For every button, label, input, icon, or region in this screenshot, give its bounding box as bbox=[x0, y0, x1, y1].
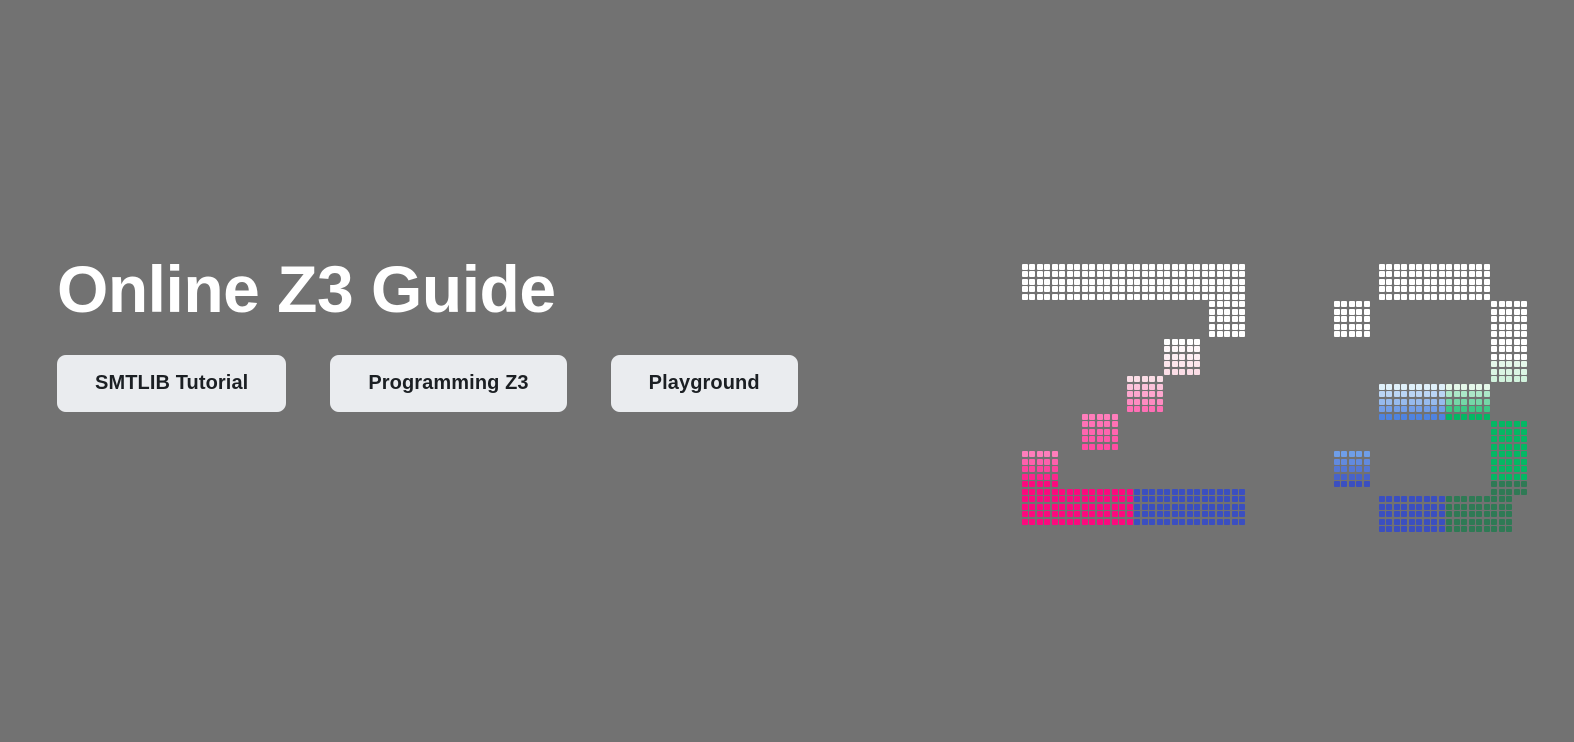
pixel-cell bbox=[1232, 309, 1238, 315]
pixel-cell bbox=[1439, 271, 1445, 277]
pixel-cell bbox=[1514, 324, 1520, 330]
pixel-cell bbox=[1424, 496, 1430, 502]
pixel-cell bbox=[1022, 496, 1028, 502]
pixel-cell bbox=[1239, 519, 1245, 525]
pixel-cell bbox=[1416, 384, 1422, 390]
pixel-cell bbox=[1491, 421, 1497, 427]
pixel-cell bbox=[1127, 279, 1133, 285]
pixel-cell bbox=[1172, 279, 1178, 285]
pixel-cell bbox=[1059, 279, 1065, 285]
pixel-cell bbox=[1172, 294, 1178, 300]
pixel-block bbox=[1446, 496, 1514, 534]
pixel-cell bbox=[1514, 481, 1520, 487]
pixel-cell bbox=[1461, 519, 1467, 525]
pixel-cell bbox=[1157, 504, 1163, 510]
pixel-cell bbox=[1424, 519, 1430, 525]
pixel-cell bbox=[1424, 286, 1430, 292]
pixel-cell bbox=[1119, 504, 1125, 510]
pixel-cell bbox=[1239, 496, 1245, 502]
pixel-cell bbox=[1379, 496, 1385, 502]
pixel-cell bbox=[1149, 496, 1155, 502]
pixel-cell bbox=[1239, 316, 1245, 322]
pixel-cell bbox=[1469, 526, 1475, 532]
pixel-cell bbox=[1461, 286, 1467, 292]
pixel-cell bbox=[1416, 391, 1422, 397]
pixel-cell bbox=[1506, 444, 1512, 450]
pixel-cell bbox=[1409, 496, 1415, 502]
pixel-cell bbox=[1379, 519, 1385, 525]
pixel-cell bbox=[1097, 489, 1103, 495]
pixel-cell bbox=[1029, 271, 1035, 277]
pixel-cell bbox=[1416, 414, 1422, 420]
pixel-cell bbox=[1439, 391, 1445, 397]
pixel-cell bbox=[1022, 294, 1028, 300]
pixel-cell bbox=[1052, 489, 1058, 495]
pixel-cell bbox=[1394, 406, 1400, 412]
pixel-cell bbox=[1341, 331, 1347, 337]
pixel-cell bbox=[1044, 459, 1050, 465]
pixel-cell bbox=[1119, 286, 1125, 292]
pixel-cell bbox=[1469, 294, 1475, 300]
pixel-cell bbox=[1217, 286, 1223, 292]
pixel-cell bbox=[1104, 519, 1110, 525]
pixel-cell bbox=[1416, 294, 1422, 300]
pixel-cell bbox=[1364, 474, 1370, 480]
pixel-cell bbox=[1506, 519, 1512, 525]
hero-section: Online Z3 Guide SMTLIB Tutorial Programm… bbox=[0, 0, 1574, 742]
pixel-cell bbox=[1521, 459, 1527, 465]
pixel-cell bbox=[1424, 279, 1430, 285]
pixel-cell bbox=[1179, 489, 1185, 495]
pixel-cell bbox=[1386, 391, 1392, 397]
pixel-cell bbox=[1446, 511, 1452, 517]
pixel-cell bbox=[1514, 489, 1520, 495]
pixel-cell bbox=[1454, 519, 1460, 525]
pixel-cell bbox=[1506, 421, 1512, 427]
pixel-cell bbox=[1454, 264, 1460, 270]
pixel-cell bbox=[1424, 526, 1430, 532]
pixel-cell bbox=[1499, 436, 1505, 442]
pixel-cell bbox=[1164, 361, 1170, 367]
pixel-cell bbox=[1521, 316, 1527, 322]
pixel-cell bbox=[1506, 436, 1512, 442]
pixel-cell bbox=[1209, 294, 1215, 300]
pixel-cell bbox=[1194, 264, 1200, 270]
pixel-cell bbox=[1521, 421, 1527, 427]
pixel-cell bbox=[1499, 481, 1505, 487]
pixel-cell bbox=[1172, 354, 1178, 360]
pixel-cell bbox=[1416, 286, 1422, 292]
pixel-cell bbox=[1476, 279, 1482, 285]
pixel-cell bbox=[1476, 414, 1482, 420]
pixel-cell bbox=[1239, 511, 1245, 517]
pixel-cell bbox=[1224, 271, 1230, 277]
pixel-cell bbox=[1052, 519, 1058, 525]
pixel-cell bbox=[1364, 466, 1370, 472]
pixel-cell bbox=[1454, 294, 1460, 300]
pixel-cell bbox=[1097, 286, 1103, 292]
smtlib-tutorial-button[interactable]: SMTLIB Tutorial bbox=[57, 355, 286, 412]
pixel-cell bbox=[1239, 301, 1245, 307]
pixel-cell bbox=[1232, 286, 1238, 292]
pixel-cell bbox=[1484, 526, 1490, 532]
pixel-cell bbox=[1089, 414, 1095, 420]
pixel-cell bbox=[1239, 286, 1245, 292]
pixel-cell bbox=[1044, 519, 1050, 525]
pixel-cell bbox=[1439, 406, 1445, 412]
pixel-cell bbox=[1224, 309, 1230, 315]
pixel-cell bbox=[1194, 339, 1200, 345]
pixel-cell bbox=[1379, 271, 1385, 277]
pixel-cell bbox=[1439, 526, 1445, 532]
pixel-cell bbox=[1454, 414, 1460, 420]
pixel-cell bbox=[1386, 279, 1392, 285]
pixel-cell bbox=[1209, 264, 1215, 270]
pixel-cell bbox=[1409, 414, 1415, 420]
pixel-cell bbox=[1394, 279, 1400, 285]
pixel-cell bbox=[1499, 339, 1505, 345]
pixel-cell bbox=[1112, 496, 1118, 502]
pixel-cell bbox=[1179, 361, 1185, 367]
pixel-cell bbox=[1164, 286, 1170, 292]
pixel-cell bbox=[1232, 301, 1238, 307]
pixel-cell bbox=[1454, 384, 1460, 390]
pixel-cell bbox=[1409, 406, 1415, 412]
pixel-cell bbox=[1491, 459, 1497, 465]
pixel-block bbox=[1021, 488, 1134, 526]
pixel-cell bbox=[1224, 286, 1230, 292]
pixel-cell bbox=[1341, 301, 1347, 307]
pixel-cell bbox=[1142, 519, 1148, 525]
pixel-block bbox=[1446, 383, 1491, 421]
pixel-cell bbox=[1476, 399, 1482, 405]
pixel-cell bbox=[1401, 271, 1407, 277]
pixel-cell bbox=[1224, 324, 1230, 330]
pixel-cell bbox=[1334, 466, 1340, 472]
programming-z3-button[interactable]: Programming Z3 bbox=[330, 355, 566, 412]
pixel-cell bbox=[1431, 526, 1437, 532]
pixel-cell bbox=[1217, 316, 1223, 322]
pixel-cell bbox=[1506, 496, 1512, 502]
pixel-cell bbox=[1491, 519, 1497, 525]
pixel-cell bbox=[1431, 504, 1437, 510]
pixel-cell bbox=[1232, 271, 1238, 277]
pixel-cell bbox=[1476, 511, 1482, 517]
pixel-cell bbox=[1521, 309, 1527, 315]
pixel-cell bbox=[1341, 324, 1347, 330]
pixel-cell bbox=[1499, 444, 1505, 450]
pixel-cell bbox=[1149, 489, 1155, 495]
pixel-cell bbox=[1499, 489, 1505, 495]
pixel-cell bbox=[1089, 429, 1095, 435]
pixel-cell bbox=[1119, 271, 1125, 277]
pixel-cell bbox=[1469, 271, 1475, 277]
pixel-cell bbox=[1431, 406, 1437, 412]
pixel-cell bbox=[1521, 369, 1527, 375]
pixel-cell bbox=[1067, 496, 1073, 502]
pixel-cell bbox=[1514, 451, 1520, 457]
pixel-cell bbox=[1334, 309, 1340, 315]
pixel-cell bbox=[1224, 264, 1230, 270]
pixel-cell bbox=[1187, 279, 1193, 285]
pixel-cell bbox=[1469, 519, 1475, 525]
pixel-cell bbox=[1089, 511, 1095, 517]
pixel-cell bbox=[1172, 496, 1178, 502]
pixel-cell bbox=[1209, 309, 1215, 315]
pixel-cell bbox=[1506, 324, 1512, 330]
pixel-cell bbox=[1134, 496, 1140, 502]
pixel-block bbox=[1021, 263, 1246, 301]
pixel-cell bbox=[1461, 504, 1467, 510]
pixel-cell bbox=[1356, 309, 1362, 315]
pixel-cell bbox=[1349, 309, 1355, 315]
pixel-cell bbox=[1112, 264, 1118, 270]
pixel-cell bbox=[1194, 496, 1200, 502]
pixel-cell bbox=[1082, 504, 1088, 510]
pixel-cell bbox=[1469, 279, 1475, 285]
pixel-cell bbox=[1514, 331, 1520, 337]
pixel-cell bbox=[1052, 294, 1058, 300]
pixel-cell bbox=[1112, 414, 1118, 420]
pixel-cell bbox=[1187, 489, 1193, 495]
pixel-cell bbox=[1506, 346, 1512, 352]
pixel-cell bbox=[1082, 496, 1088, 502]
pixel-cell bbox=[1521, 451, 1527, 457]
pixel-cell bbox=[1439, 399, 1445, 405]
pixel-cell bbox=[1491, 354, 1497, 360]
pixel-cell bbox=[1097, 414, 1103, 420]
pixel-cell bbox=[1097, 271, 1103, 277]
pixel-cell bbox=[1401, 279, 1407, 285]
pixel-cell bbox=[1232, 489, 1238, 495]
pixel-cell bbox=[1067, 286, 1073, 292]
pixel-cell bbox=[1067, 504, 1073, 510]
pixel-cell bbox=[1446, 519, 1452, 525]
pixel-cell bbox=[1356, 466, 1362, 472]
pixel-cell bbox=[1401, 294, 1407, 300]
pixel-cell bbox=[1104, 511, 1110, 517]
pixel-cell bbox=[1476, 286, 1482, 292]
pixel-cell bbox=[1142, 376, 1148, 382]
pixel-cell bbox=[1506, 511, 1512, 517]
pixel-cell bbox=[1514, 361, 1520, 367]
pixel-cell bbox=[1089, 264, 1095, 270]
pixel-cell bbox=[1157, 271, 1163, 277]
pixel-cell bbox=[1217, 504, 1223, 510]
pixel-cell bbox=[1209, 496, 1215, 502]
pixel-cell bbox=[1142, 294, 1148, 300]
pixel-cell bbox=[1187, 339, 1193, 345]
pixel-cell bbox=[1349, 331, 1355, 337]
pixel-cell bbox=[1446, 279, 1452, 285]
pixel-cell bbox=[1491, 346, 1497, 352]
pixel-cell bbox=[1521, 466, 1527, 472]
pixel-cell bbox=[1439, 496, 1445, 502]
pixel-cell bbox=[1491, 361, 1497, 367]
pixel-cell bbox=[1514, 369, 1520, 375]
pixel-cell bbox=[1224, 294, 1230, 300]
pixel-cell bbox=[1022, 481, 1028, 487]
pixel-cell bbox=[1379, 526, 1385, 532]
pixel-cell bbox=[1424, 406, 1430, 412]
pixel-cell bbox=[1386, 406, 1392, 412]
pixel-cell bbox=[1491, 496, 1497, 502]
pixel-cell bbox=[1157, 279, 1163, 285]
pixel-cell bbox=[1112, 436, 1118, 442]
pixel-cell bbox=[1074, 504, 1080, 510]
pixel-cell bbox=[1209, 301, 1215, 307]
hero-content: Online Z3 Guide SMTLIB Tutorial Programm… bbox=[57, 256, 977, 412]
pixel-cell bbox=[1454, 406, 1460, 412]
pixel-cell bbox=[1239, 331, 1245, 337]
pixel-cell bbox=[1224, 496, 1230, 502]
pixel-cell bbox=[1431, 391, 1437, 397]
pixel-cell bbox=[1521, 429, 1527, 435]
pixel-cell bbox=[1491, 451, 1497, 457]
pixel-cell bbox=[1484, 519, 1490, 525]
pixel-cell bbox=[1409, 294, 1415, 300]
pixel-cell bbox=[1179, 504, 1185, 510]
pixel-cell bbox=[1499, 316, 1505, 322]
pixel-cell bbox=[1461, 294, 1467, 300]
pixel-cell bbox=[1127, 294, 1133, 300]
pixel-cell bbox=[1461, 271, 1467, 277]
pixel-cell bbox=[1149, 399, 1155, 405]
pixel-cell bbox=[1499, 459, 1505, 465]
pixel-cell bbox=[1499, 519, 1505, 525]
pixel-cell bbox=[1379, 511, 1385, 517]
pixel-cell bbox=[1386, 264, 1392, 270]
pixel-cell bbox=[1194, 511, 1200, 517]
pixel-cell bbox=[1386, 286, 1392, 292]
pixel-cell bbox=[1499, 496, 1505, 502]
pixel-cell bbox=[1134, 399, 1140, 405]
pixel-cell bbox=[1239, 309, 1245, 315]
pixel-cell bbox=[1067, 271, 1073, 277]
pixel-cell bbox=[1461, 496, 1467, 502]
pixel-cell bbox=[1022, 279, 1028, 285]
pixel-cell bbox=[1164, 271, 1170, 277]
pixel-cell bbox=[1506, 429, 1512, 435]
pixel-cell bbox=[1484, 264, 1490, 270]
pixel-cell bbox=[1187, 361, 1193, 367]
pixel-cell bbox=[1022, 511, 1028, 517]
pixel-cell bbox=[1089, 421, 1095, 427]
pixel-cell bbox=[1424, 294, 1430, 300]
pixel-cell bbox=[1446, 294, 1452, 300]
pixel-cell bbox=[1491, 436, 1497, 442]
pixel-cell bbox=[1044, 264, 1050, 270]
pixel-cell bbox=[1067, 511, 1073, 517]
pixel-cell bbox=[1424, 384, 1430, 390]
pixel-cell bbox=[1409, 264, 1415, 270]
pixel-cell bbox=[1454, 526, 1460, 532]
pixel-cell bbox=[1074, 279, 1080, 285]
pixel-cell bbox=[1157, 496, 1163, 502]
pixel-cell bbox=[1364, 301, 1370, 307]
pixel-cell bbox=[1089, 436, 1095, 442]
pixel-cell bbox=[1476, 504, 1482, 510]
pixel-cell bbox=[1149, 519, 1155, 525]
pixel-cell bbox=[1491, 309, 1497, 315]
playground-button[interactable]: Playground bbox=[611, 355, 798, 412]
pixel-cell bbox=[1142, 406, 1148, 412]
pixel-cell bbox=[1401, 391, 1407, 397]
pixel-cell bbox=[1506, 489, 1512, 495]
pixel-cell bbox=[1119, 264, 1125, 270]
pixel-cell bbox=[1149, 504, 1155, 510]
pixel-cell bbox=[1172, 264, 1178, 270]
pixel-cell bbox=[1386, 519, 1392, 525]
pixel-cell bbox=[1187, 264, 1193, 270]
pixel-cell bbox=[1499, 354, 1505, 360]
pixel-cell bbox=[1127, 384, 1133, 390]
pixel-cell bbox=[1172, 504, 1178, 510]
pixel-cell bbox=[1484, 391, 1490, 397]
pixel-cell bbox=[1469, 286, 1475, 292]
pixel-cell bbox=[1484, 504, 1490, 510]
pixel-cell bbox=[1416, 399, 1422, 405]
pixel-cell bbox=[1454, 279, 1460, 285]
pixel-cell bbox=[1334, 316, 1340, 322]
pixel-cell bbox=[1224, 279, 1230, 285]
pixel-cell bbox=[1202, 279, 1208, 285]
pixel-cell bbox=[1461, 399, 1467, 405]
pixel-cell bbox=[1134, 504, 1140, 510]
pixel-cell bbox=[1401, 406, 1407, 412]
pixel-cell bbox=[1461, 526, 1467, 532]
pixel-cell bbox=[1149, 391, 1155, 397]
pixel-cell bbox=[1217, 264, 1223, 270]
pixel-cell bbox=[1499, 421, 1505, 427]
pixel-cell bbox=[1356, 474, 1362, 480]
pixel-cell bbox=[1224, 331, 1230, 337]
pixel-cell bbox=[1037, 264, 1043, 270]
pixel-cell bbox=[1029, 474, 1035, 480]
pixel-cell bbox=[1202, 264, 1208, 270]
pixel-cell bbox=[1431, 294, 1437, 300]
pixel-cell bbox=[1172, 286, 1178, 292]
pixel-cell bbox=[1349, 459, 1355, 465]
pixel-cell bbox=[1499, 429, 1505, 435]
pixel-cell bbox=[1439, 414, 1445, 420]
pixel-cell bbox=[1052, 496, 1058, 502]
pixel-cell bbox=[1484, 294, 1490, 300]
pixel-cell bbox=[1127, 511, 1133, 517]
pixel-cell bbox=[1514, 436, 1520, 442]
pixel-cell bbox=[1074, 286, 1080, 292]
pixel-cell bbox=[1491, 489, 1497, 495]
pixel-cell bbox=[1157, 286, 1163, 292]
pixel-cell bbox=[1112, 489, 1118, 495]
pixel-cell bbox=[1334, 451, 1340, 457]
pixel-cell bbox=[1097, 429, 1103, 435]
pixel-cell bbox=[1104, 279, 1110, 285]
pixel-cell bbox=[1119, 519, 1125, 525]
pixel-cell bbox=[1217, 271, 1223, 277]
pixel-cell bbox=[1104, 294, 1110, 300]
pixel-cell bbox=[1506, 361, 1512, 367]
pixel-cell bbox=[1127, 519, 1133, 525]
pixel-cell bbox=[1029, 489, 1035, 495]
pixel-cell bbox=[1386, 504, 1392, 510]
pixel-cell bbox=[1074, 519, 1080, 525]
pixel-cell bbox=[1164, 346, 1170, 352]
pixel-cell bbox=[1224, 489, 1230, 495]
pixel-cell bbox=[1164, 496, 1170, 502]
pixel-cell bbox=[1157, 406, 1163, 412]
pixel-cell bbox=[1157, 384, 1163, 390]
